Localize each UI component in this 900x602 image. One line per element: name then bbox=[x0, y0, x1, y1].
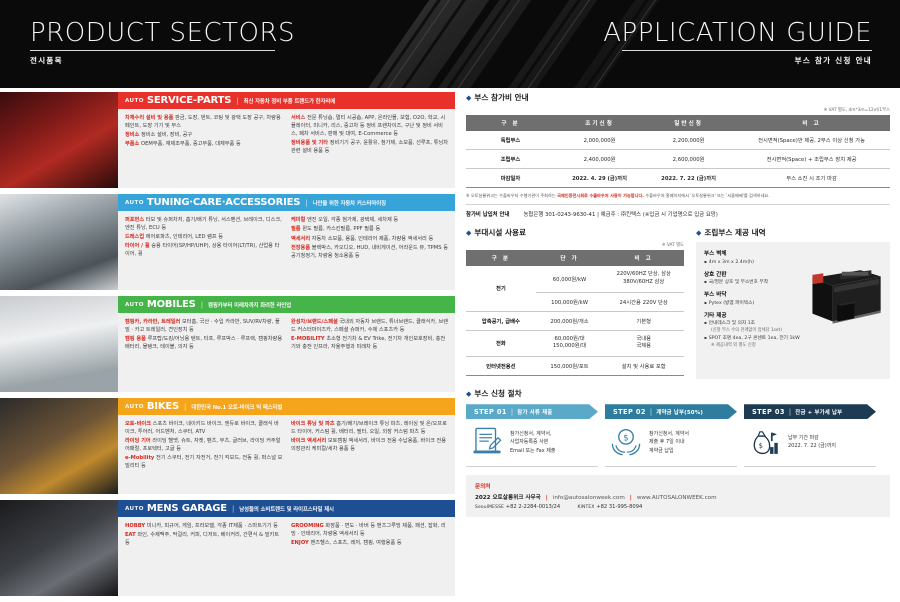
entry-value: OEM부품, 재제조부품, 중고부품, 대체부품 등 bbox=[141, 141, 241, 147]
contact-pipe: | bbox=[546, 495, 548, 501]
sector-bar-tuning: AUTO TUNING·CARE·ACCESSORIES | 나만을 위한 자동… bbox=[118, 194, 455, 211]
sector-entry: 퍼포먼스 터보 및 슈퍼차저, 흡기/배기 튜닝, 서스펜션, 브레이크, 디스… bbox=[125, 217, 283, 233]
sector-entry: 정비용품 및 기타 정비기기 공구, 윤활유, 첨가제, 소모품, 선루프, 튜… bbox=[291, 140, 449, 156]
sector-entry: 차체수리 설비 및 용품 판금, 도장, 덴트, 코팅 및 광택 도장 공구, … bbox=[125, 115, 283, 131]
sector-entry: EAT 와인, 수제맥주, 막걸리, 커피, 디저트, 베이커리, 간편식 & … bbox=[125, 532, 283, 548]
sector-auto-label: AUTO bbox=[125, 302, 144, 308]
sector-entry: GROOMING 화장품 · 면도 · 바버 등 맨즈그루밍 제품, 패션, 잡… bbox=[291, 523, 449, 539]
col-header-note: 비 고 bbox=[603, 250, 684, 266]
cell-normal: 2,600,000원 bbox=[644, 150, 733, 169]
sector-entry: 드레스업 에어로파츠, 인테리어, LED 램프 등 bbox=[125, 234, 283, 242]
product-sectors-column: AUTO SERVICE-PARTS | 최신 자동차 정비 부품 트렌드가 한… bbox=[0, 92, 455, 602]
diamond-bullet-icon: ◆ bbox=[696, 229, 701, 237]
entry-key: 부품소 bbox=[125, 141, 139, 147]
application-guide-page: PRODUCT SECTORS 전시품목 APPLICATION GUIDE 부… bbox=[0, 0, 900, 597]
diamond-bullet-icon: ◆ bbox=[466, 390, 471, 398]
sector-auto-label: AUTO bbox=[125, 98, 144, 104]
section-title-procedure: ◆ 부스 신청 절차 bbox=[466, 388, 890, 399]
entry-key: GROOMING bbox=[291, 523, 324, 529]
table-row: 마감일자 2022. 4. 29 (금)까지 2022. 7. 22 (금)까지… bbox=[466, 169, 890, 188]
cell-unitprice: 100,000원/kW bbox=[536, 292, 604, 311]
sector-col-right: 케미컬 엔진 오일, 각종 첨가제, 광택제, 세차제 등 필름 윈도 필름, … bbox=[291, 217, 449, 262]
sector-name: MENS GARAGE bbox=[147, 503, 227, 514]
cell-unitprice: 60,000원/kW bbox=[536, 266, 604, 292]
cell-note: 기본형 bbox=[603, 311, 684, 330]
col-header-division: 구 분 bbox=[466, 115, 555, 131]
table-row: 압축공기, 급배수 200,000원/개소 기본형 bbox=[466, 311, 684, 330]
step-separator: | bbox=[511, 408, 513, 416]
cell-early: 2,000,000원 bbox=[555, 131, 644, 150]
booth-group-heading: 부스 벽체 bbox=[704, 249, 882, 257]
entry-value: 미니카, 피규어, 게임, 프라모델, 각종 IT제품 · 스마트기기 등 bbox=[147, 523, 278, 529]
step-separator: | bbox=[650, 408, 652, 416]
sector-bar-bikes: AUTO BIKES | 대한민국 No.1 오토-바이크 빅 페스티벌 bbox=[118, 398, 455, 415]
entry-key: 차체수리 설비 및 용품 bbox=[125, 115, 173, 121]
section-title-booth-contents: ◆ 조립부스 제공 내역 bbox=[696, 227, 890, 238]
facility-fee-block: ◆ 부대시설 사용료 ※ VAT 별도 구 분 단 가 비 고 전기 60,00… bbox=[466, 227, 684, 379]
payment-label: 참가비 납입처 안내 bbox=[466, 210, 509, 218]
entry-value: 에어로파츠, 인테리어, LED 램프 등 bbox=[146, 234, 223, 240]
sector-card-service-parts: AUTO SERVICE-PARTS | 최신 자동차 정비 부품 트렌드가 한… bbox=[0, 92, 455, 188]
document-icon bbox=[470, 425, 504, 459]
entry-key: 전장용품 bbox=[291, 245, 310, 251]
sector-name: MOBILES bbox=[147, 299, 196, 310]
step-label: 잔금 + 부가세 납부 bbox=[795, 408, 842, 416]
page-subtitle: 전시품목 bbox=[30, 55, 450, 66]
step-03-bar: STEP 03 | 잔금 + 부가세 납부 bbox=[744, 404, 876, 419]
entry-value: 윈도 필름, 카스킨필름, PPF 필름 등 bbox=[302, 226, 380, 232]
cell-note: 부스 소진 시 조기 마감 bbox=[733, 169, 890, 188]
facility-vat-note: ※ VAT 별도 bbox=[466, 242, 684, 248]
sector-tagline: 최신 자동차 정비 부품 트렌드가 한자리에 bbox=[244, 97, 336, 105]
procedure-steps: STEP 01 | 참가 서류 제출 참가신청서, 계약서, bbox=[466, 404, 890, 467]
hands-coin-icon: $ bbox=[609, 425, 643, 459]
sector-entry: 완성차/브랜드/스페셜 국내외 자동차 브랜드, 튜너브랜드, 클래식카, 브랜… bbox=[291, 319, 449, 335]
step-01-text: 참가신청서, 계약서, 사업자등록증 사본 Email 또는 Fax 제출 bbox=[510, 430, 555, 456]
sector-entry: 케미컬 엔진 오일, 각종 첨가제, 광택제, 세차제 등 bbox=[291, 217, 449, 225]
cell-note: 220V/60HZ 단상, 삼상380V/60HZ 삼상 bbox=[603, 266, 684, 292]
cell-note: 전시면적(Space)만 제공, 2부스 이상 신청 가능 bbox=[733, 131, 890, 150]
entry-key: 캠핑 용품 bbox=[125, 336, 146, 342]
cell-unitprice: 200,000원/개소 bbox=[536, 311, 604, 330]
sector-entry: 액세서리 자동차 소모품, 용품, 인테리어 제품, 차량용 액세서리 등 bbox=[291, 236, 449, 244]
contact-block: 문의처 2022 오토살롱위크 사무국|info@autosalonweek.c… bbox=[466, 475, 890, 517]
entry-key: 서비스 bbox=[291, 115, 305, 121]
booth-contents-card: 부스 벽체 4m x 3m x 2.4m(h) 상호 간판 국/영문 상호 및 … bbox=[696, 242, 890, 379]
step-line: 사업자등록증 사본 bbox=[510, 439, 548, 445]
disclaimer-post: 수출바우처 홈페이지에서 '오토살롱위크' 또는 '서울메쎄'를 검색하세요. bbox=[644, 193, 770, 198]
table-row: 전기 60,000원/kW 220V/60HZ 단상, 삼상380V/60HZ … bbox=[466, 266, 684, 292]
assembly-booth-block: ◆ 조립부스 제공 내역 bbox=[696, 227, 890, 379]
sector-col-right: 바이크 튜닝 및 파츠 흡기/배기/브레이크 튜닝 파츠, 레이싱 및 온/오프… bbox=[291, 421, 449, 472]
sector-entry: ENJOY 맨즈헬스, 스포츠, 레저, 캠핑, 여행용품 등 bbox=[291, 540, 449, 548]
entry-value: 전문 튜닝숍, 멀티 시공숍, APP, 온라인몰, 보험, O2O, 학교, … bbox=[291, 115, 445, 137]
sector-entry: HOBBY 미니카, 피규어, 게임, 프라모델, 각종 IT제품 · 스마트기… bbox=[125, 523, 283, 531]
entry-key: 오토-바이크 bbox=[125, 421, 151, 427]
voucher-disclaimer: ※ 오토살롱위크는 수출바우처 수행기관이 주최하는 국제인증전시회로 수출바우… bbox=[466, 193, 890, 205]
sector-col-left: 오토-바이크 스포츠 바이크, 네이키드 바이크, 엔듀로 바이크, 클래식 바… bbox=[125, 421, 283, 472]
step-02: STEP 02 | 계약금 납부(50%) $ 참가신청서, 계약서 bbox=[605, 404, 737, 467]
sector-tagline: 나만을 위한 자동차 커스터마이징 bbox=[313, 199, 386, 207]
sector-photo-mens-garage bbox=[0, 500, 118, 596]
sector-entry: 캠핑 용품 루프탑/도킹/어닝용 텐트, 타프, 루프박스 · 루프랙, 캠핑차… bbox=[125, 336, 283, 352]
svg-text:$: $ bbox=[623, 434, 628, 444]
step-number: STEP 03 bbox=[752, 408, 785, 416]
col-header-normal: 일반신청 bbox=[644, 115, 733, 131]
title-rule bbox=[30, 50, 275, 51]
step-line: 계약금 납입 bbox=[649, 448, 674, 454]
sector-separator: | bbox=[201, 301, 203, 309]
diamond-bullet-icon: ◆ bbox=[466, 94, 471, 102]
sector-col-right: 완성차/브랜드/스페셜 국내외 자동차 브랜드, 튜너브랜드, 클래식카, 브랜… bbox=[291, 319, 449, 353]
step-number: STEP 02 bbox=[613, 408, 646, 416]
entry-key: 케미컬 bbox=[291, 217, 305, 223]
tel-kintex: +82 31-995-8094 bbox=[596, 504, 642, 510]
money-bag-icon: $ bbox=[748, 425, 782, 459]
contact-email[interactable]: info@autosalonweek.com bbox=[553, 495, 625, 501]
sector-col-left: 차체수리 설비 및 용품 판금, 도장, 덴트, 코팅 및 광택 도장 공구, … bbox=[125, 115, 283, 157]
sector-entry: 정비소 정비소 설비, 장비, 공구 bbox=[125, 132, 283, 140]
booth-fee-title: 부스 참가비 안내 bbox=[474, 92, 528, 103]
cell-early-deadline: 2022. 4. 29 (금)까지 bbox=[555, 169, 644, 188]
entry-key: 바이크 튜닝 및 파츠 bbox=[291, 421, 335, 427]
sector-entry: 오토-바이크 스포츠 바이크, 네이키드 바이크, 엔듀로 바이크, 클래식 바… bbox=[125, 421, 283, 437]
booth-contents-title: 조립부스 제공 내역 bbox=[704, 227, 765, 238]
contact-org: 2022 오토살롱위크 사무국 bbox=[475, 495, 541, 501]
sector-separator: | bbox=[305, 199, 307, 207]
sector-entry: 바이크 튜닝 및 파츠 흡기/배기/브레이크 튜닝 파츠, 레이싱 및 온/오프… bbox=[291, 421, 449, 437]
cell-electricity: 전기 bbox=[466, 266, 536, 311]
entry-key: 라이딩 기어 bbox=[125, 438, 151, 444]
section-title-facility: ◆ 부대시설 사용료 bbox=[466, 227, 684, 238]
cell-note: 설치 및 사용료 포함 bbox=[603, 356, 684, 375]
sector-card-tuning-care-accessories: AUTO TUNING·CARE·ACCESSORIES | 나만을 위한 자동… bbox=[0, 194, 455, 290]
guide-subtitle: 부스 참가 신청 안내 bbox=[442, 55, 872, 66]
col-header-note: 비 고 bbox=[733, 115, 890, 131]
sector-bar-mobiles: AUTO MOBILES | 캠핑카부터 미래차까지 화려한 라인업 bbox=[118, 296, 455, 313]
cell-early: 2,400,000원 bbox=[555, 150, 644, 169]
page-header: PRODUCT SECTORS 전시품목 APPLICATION GUIDE 부… bbox=[0, 0, 900, 88]
venue-seoulmesse: SeoulMESSE bbox=[475, 505, 504, 510]
list-item-note: (신청 부스 수의 관계없이 업체당 1set) bbox=[704, 327, 882, 334]
table-row: 인터넷전용선 150,000원/포트 설치 및 사용료 포함 bbox=[466, 356, 684, 375]
sector-tagline: 캠핑카부터 미래차까지 화려한 라인업 bbox=[208, 301, 291, 309]
entry-value: 엔진 오일, 각종 첨가제, 광택제, 세차제 등 bbox=[307, 217, 398, 223]
entry-key: EAT bbox=[125, 532, 136, 538]
sector-auto-label: AUTO bbox=[125, 404, 144, 410]
entry-key: 완성차/브랜드/스페셜 bbox=[291, 319, 338, 325]
section-title-booth-fee: ◆ 부스 참가비 안내 bbox=[466, 92, 890, 103]
entry-key: 바이크 액세서리 bbox=[291, 438, 326, 444]
cell-note: 24시간용 220V 단상 bbox=[603, 292, 684, 311]
cell-note: 전시면적(Space) + 조립부스 장치 제공 bbox=[733, 150, 890, 169]
entry-key: 타이어 / 휠 bbox=[125, 243, 150, 249]
payment-value: 농협은행 301-0243-9630-41 | 예금주 : ㈜킨텍스 (※입금 … bbox=[523, 210, 717, 218]
sector-auto-label: AUTO bbox=[125, 506, 144, 512]
cell-division: 전화 bbox=[466, 330, 536, 356]
payment-account-row: 참가비 납입처 안내 농협은행 301-0243-9630-41 | 예금주 :… bbox=[466, 210, 890, 218]
list-item: SPOT 조명 4ea, 2구 콘센트 1ea, 전기 1kW bbox=[704, 335, 882, 342]
sector-card-bikes: AUTO BIKES | 대한민국 No.1 오토-바이크 빅 페스티벌 오토-… bbox=[0, 398, 455, 494]
step-label: 참가 서류 제출 bbox=[517, 408, 552, 416]
table-row: 독립부스 2,000,000원 2,200,000원 전시면적(Space)만 … bbox=[466, 131, 890, 150]
step-03: STEP 03 | 잔금 + 부가세 납부 $ 납부 bbox=[744, 404, 876, 467]
sector-entry: 전장용품 블랙박스, 카오디오, HUD, 내비게이션, 어라운드 뷰, TPM… bbox=[291, 245, 449, 261]
sector-bar-service-parts: AUTO SERVICE-PARTS | 최신 자동차 정비 부품 트렌드가 한… bbox=[118, 92, 455, 109]
cell-division: 인터넷전용선 bbox=[466, 356, 536, 375]
entry-value: 블랙박스, 카오디오, HUD, 내비게이션, 어라운드 뷰, TPMS 등 공… bbox=[291, 245, 448, 259]
sector-separator: | bbox=[236, 97, 238, 105]
contact-heading: 문의처 bbox=[475, 482, 881, 490]
cell-normal-deadline: 2022. 7. 22 (금)까지 bbox=[644, 169, 733, 188]
sector-entry: e-Mobility 전기 스쿠터, 전기 자전거, 전기 킥보드, 전동 휠,… bbox=[125, 455, 283, 471]
entry-value: 루프탑/도킹/어닝용 텐트, 타프, 루프박스 · 루프랙, 캠핑차량용 배터리… bbox=[125, 336, 282, 350]
contact-line-2: SeoulMESSE +82 2-2284-0013/24 KINTEX +82… bbox=[475, 504, 881, 510]
sector-col-right: 서비스 전문 튜닝숍, 멀티 시공숍, APP, 온라인몰, 보험, O2O, … bbox=[291, 115, 449, 157]
sector-photo-service-parts bbox=[0, 92, 118, 188]
sector-auto-label: AUTO bbox=[125, 200, 144, 206]
step-01-bar: STEP 01 | 참가 서류 제출 bbox=[466, 404, 598, 419]
sector-entry: 라이딩 기어 라이딩 헬멧, 슈트, 자켓, 팬츠, 부츠, 글러브, 라이딩 … bbox=[125, 438, 283, 454]
entry-value: 정비소 설비, 장비, 공구 bbox=[141, 132, 192, 138]
sector-photo-mobiles bbox=[0, 296, 118, 392]
entry-key: 액세서리 bbox=[291, 236, 310, 242]
cell-division: 마감일자 bbox=[466, 169, 555, 188]
sector-entry: 필름 윈도 필름, 카스킨필름, PPF 필름 등 bbox=[291, 226, 449, 234]
contact-pipe: | bbox=[630, 495, 632, 501]
step-label: 계약금 납부(50%) bbox=[656, 408, 703, 416]
entry-key: E-MOBILITY bbox=[291, 336, 325, 342]
guide-title-rule bbox=[622, 50, 872, 51]
booth-fee-table: 구 분 조기신청 일반신청 비 고 독립부스 2,000,000원 2,200,… bbox=[466, 115, 890, 188]
entry-key: ENJOY bbox=[291, 540, 309, 546]
booth-fee-vat-note: ※ VAT 별도, 4m*3m=12㎡/1부스 bbox=[466, 107, 890, 113]
cell-normal: 2,200,000원 bbox=[644, 131, 733, 150]
cell-note: 국내용국제용 bbox=[603, 330, 684, 356]
sector-photo-tuning bbox=[0, 194, 118, 290]
step-line: 참가신청서, 계약서 bbox=[649, 431, 689, 437]
sector-card-mobiles: AUTO MOBILES | 캠핑카부터 미래차까지 화려한 라인업 캠핑카, … bbox=[0, 296, 455, 392]
header-right-block: APPLICATION GUIDE 부스 참가 신청 안내 bbox=[442, 20, 872, 66]
step-03-text: 납부 기간 마감 2022. 7. 22 (금)까지 bbox=[788, 434, 836, 451]
entry-value: 맨즈헬스, 스포츠, 레저, 캠핑, 여행용품 등 bbox=[310, 540, 401, 546]
step-02-text: 참가신청서, 계약서 제출 후 7일 이내 계약금 납입 bbox=[649, 430, 689, 456]
step-line: 납부 기간 마감 bbox=[788, 435, 819, 441]
sector-col-left: HOBBY 미니카, 피규어, 게임, 프라모델, 각종 IT제품 · 스마트기… bbox=[125, 523, 283, 549]
cell-division: 독립부스 bbox=[466, 131, 555, 150]
page-title: PRODUCT SECTORS bbox=[30, 20, 450, 47]
entry-key: 필름 bbox=[291, 226, 301, 232]
sector-col-right: GROOMING 화장품 · 면도 · 바버 등 맨즈그루밍 제품, 패션, 잡… bbox=[291, 523, 449, 549]
sector-entry: 서비스 전문 튜닝숍, 멀티 시공숍, APP, 온라인몰, 보험, O2O, … bbox=[291, 115, 449, 138]
entry-key: 드레스업 bbox=[125, 234, 144, 240]
procedure-title: 부스 신청 절차 bbox=[474, 388, 521, 399]
step-line: 2022. 7. 22 (금)까지 bbox=[788, 443, 836, 449]
sector-entry: 타이어 / 휠 승용 타이어(SP/HP/UHP), 상용 타이어(LT/TR)… bbox=[125, 243, 283, 259]
cell-unitprice: 60,000원/대150,000원/대 bbox=[536, 330, 604, 356]
sector-card-mens-garage: AUTO MENS GARAGE | 남성들의 소비트렌드 및 라이프스타일 제… bbox=[0, 500, 455, 596]
entry-key: 캠핑카, 카라반, 트레일러 bbox=[125, 319, 180, 325]
sector-tagline: 남성들의 소비트렌드 및 라이프스타일 제시 bbox=[239, 505, 334, 513]
diamond-bullet-icon: ◆ bbox=[466, 229, 471, 237]
step-number: STEP 01 bbox=[474, 408, 507, 416]
contact-website[interactable]: www.AUTOSALONWEEK.com bbox=[637, 495, 717, 501]
header-left-block: PRODUCT SECTORS 전시품목 bbox=[30, 20, 450, 66]
sector-col-left: 퍼포먼스 터보 및 슈퍼차저, 흡기/배기 튜닝, 서스펜션, 브레이크, 디스… bbox=[125, 217, 283, 262]
disclaimer-emphasis: 국제인증전시회로 수출바우처 사용이 가능합니다. bbox=[557, 193, 644, 198]
step-line: 제출 후 7일 이내 bbox=[649, 439, 685, 445]
col-header-division: 구 분 bbox=[466, 250, 536, 266]
facility-fee-table: 구 분 단 가 비 고 전기 60,000원/kW 220V/60HZ 단상, … bbox=[466, 250, 684, 376]
col-header-early: 조기신청 bbox=[555, 115, 644, 131]
application-guide-column: ◆ 부스 참가비 안내 ※ VAT 별도, 4m*3m=12㎡/1부스 구 분 … bbox=[466, 92, 890, 517]
step-line: 참가신청서, 계약서, bbox=[510, 431, 552, 437]
entry-value: 와인, 수제맥주, 막걸리, 커피, 디저트, 베이커리, 간편식 & 밀키트 … bbox=[125, 532, 279, 546]
sector-entry: E-MOBILITY 초소형 전기차 & EV Trike, 전기차 개인보호장… bbox=[291, 336, 449, 352]
step-01: STEP 01 | 참가 서류 제출 참가신청서, 계약서, bbox=[466, 404, 598, 467]
list-item-note: ※ 제공내역 외 별도 신청 bbox=[704, 342, 882, 349]
entry-key: e-Mobility bbox=[125, 455, 154, 461]
sector-bar-mens-garage: AUTO MENS GARAGE | 남성들의 소비트렌드 및 라이프스타일 제… bbox=[118, 500, 455, 517]
cell-division: 압축공기, 급배수 bbox=[466, 311, 536, 330]
sector-col-left: 캠핑카, 카라반, 트레일러 모터홈, 국산 · 수입 카라반, SUV/RV차… bbox=[125, 319, 283, 353]
assembly-booth-3d-render bbox=[806, 264, 884, 326]
sector-photo-bikes bbox=[0, 398, 118, 494]
sector-name: TUNING·CARE·ACCESSORIES bbox=[147, 197, 300, 208]
step-line: Email 또는 Fax 제출 bbox=[510, 448, 555, 454]
cell-division: 조립부스 bbox=[466, 150, 555, 169]
venue-kintex: KINTEX bbox=[577, 505, 594, 510]
contact-line-1: 2022 오토살롱위크 사무국|info@autosalonweek.com|w… bbox=[475, 493, 881, 501]
sector-tagline: 대한민국 No.1 오토-바이크 빅 페스티벌 bbox=[191, 403, 282, 411]
sector-entry: 부품소 OEM부품, 재제조부품, 중고부품, 대체부품 등 bbox=[125, 141, 283, 149]
sector-name: SERVICE-PARTS bbox=[147, 95, 231, 106]
step-02-bar: STEP 02 | 계약금 납부(50%) bbox=[605, 404, 737, 419]
disclaimer-pre: ※ 오토살롱위크는 수출바우처 수행기관이 주최하는 bbox=[466, 193, 557, 198]
entry-key: HOBBY bbox=[125, 523, 145, 529]
sector-separator: | bbox=[184, 403, 186, 411]
guide-title: APPLICATION GUIDE bbox=[442, 20, 872, 47]
col-header-unitprice: 단 가 bbox=[536, 250, 604, 266]
sector-entry: 캠핑카, 카라반, 트레일러 모터홈, 국산 · 수입 카라반, SUV/RV차… bbox=[125, 319, 283, 335]
entry-value: 터보 및 슈퍼차저, 흡기/배기 튜닝, 서스펜션, 브레이크, 디스크, 엔진… bbox=[125, 217, 282, 231]
tel-seoulmesse: +82 2-2284-0013/24 bbox=[506, 504, 560, 510]
table-row: 조립부스 2,400,000원 2,600,000원 전시면적(Space) +… bbox=[466, 150, 890, 169]
entry-value: 자동차 소모품, 용품, 인테리어 제품, 차량용 액세서리 등 bbox=[312, 236, 434, 242]
facility-title: 부대시설 사용료 bbox=[474, 227, 526, 238]
sector-entry: 바이크 액세서리 모토캠핑 액세서리, 바이크 전용 수납용품, 바이크 전용 … bbox=[291, 438, 449, 454]
table-row: 전화 60,000원/대150,000원/대 국내용국제용 bbox=[466, 330, 684, 356]
entry-key: 정비소 bbox=[125, 132, 139, 138]
entry-key: 정비용품 및 기타 bbox=[291, 140, 328, 146]
cell-unitprice: 150,000원/포트 bbox=[536, 356, 604, 375]
entry-key: 퍼포먼스 bbox=[125, 217, 144, 223]
sector-separator: | bbox=[232, 505, 234, 513]
sector-name: BIKES bbox=[147, 401, 179, 412]
step-separator: | bbox=[789, 408, 791, 416]
svg-text:$: $ bbox=[759, 442, 763, 450]
